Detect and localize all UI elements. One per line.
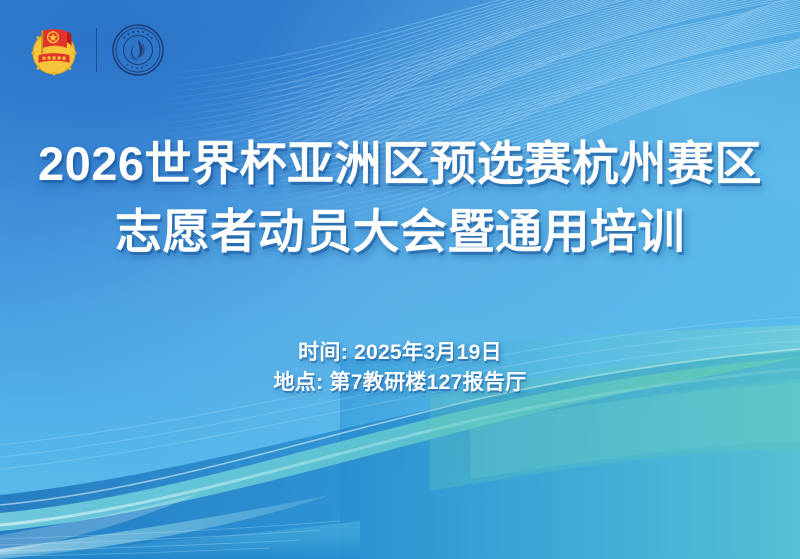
communist-youth-league-emblem-icon xyxy=(26,22,82,78)
event-location: 地点: 第7教研楼127报告厅 xyxy=(0,368,800,398)
logo-row xyxy=(26,22,165,78)
poster-title: 2026世界杯亚洲区预选赛杭州赛区 志愿者动员大会暨通用培训 xyxy=(0,132,800,264)
title-line-2: 志愿者动员大会暨通用培训 xyxy=(0,200,800,264)
event-time: 时间: 2025年3月19日 xyxy=(0,338,800,368)
institution-seal-icon xyxy=(111,23,165,77)
logo-divider xyxy=(96,28,97,72)
event-poster: 2026世界杯亚洲区预选赛杭州赛区 志愿者动员大会暨通用培训 时间: 2025年… xyxy=(0,0,800,559)
event-details: 时间: 2025年3月19日 地点: 第7教研楼127报告厅 xyxy=(0,338,800,398)
title-line-1: 2026世界杯亚洲区预选赛杭州赛区 xyxy=(0,132,800,196)
